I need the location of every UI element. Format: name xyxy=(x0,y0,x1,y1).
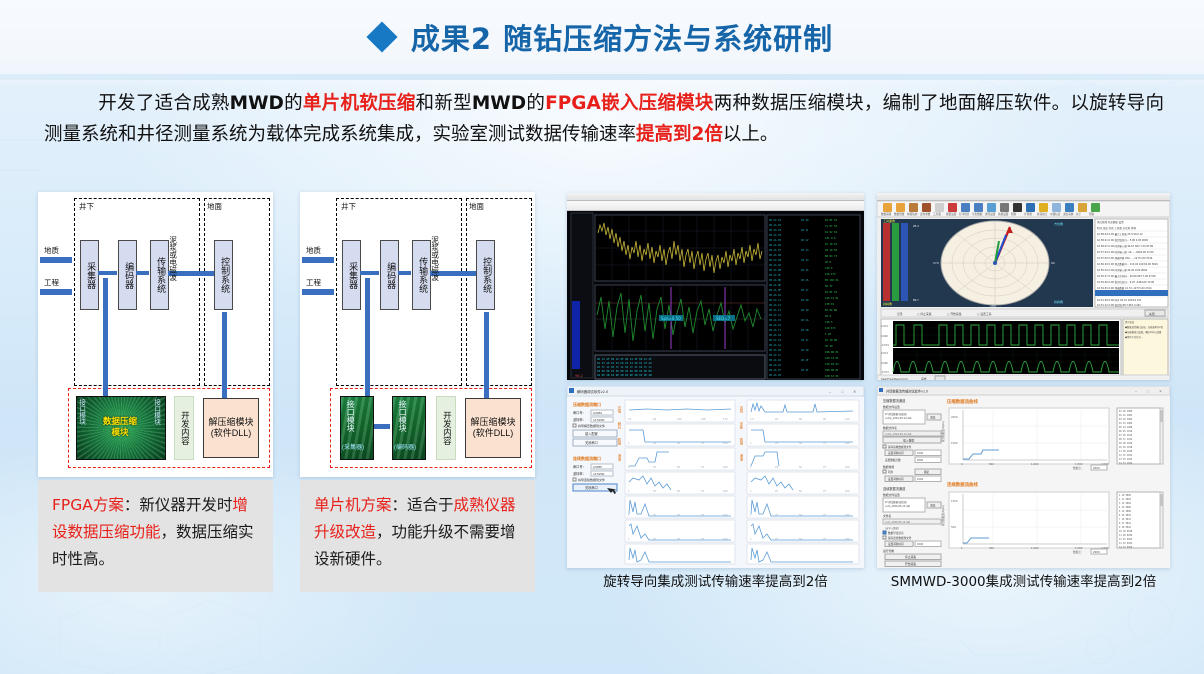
svg-text:00 AA 11: 00 AA 11 xyxy=(769,298,782,302)
svg-text:25: 25 xyxy=(653,466,657,469)
block-collector-2: 采集器 xyxy=(342,240,361,310)
svg-text:10:55:32 0:00 同步输入键 44.2: 10:55:32 0:00 同步输入键 44.20 0.00 0000 xyxy=(1097,268,1148,272)
svg-text:90: 90 xyxy=(1051,261,1055,265)
svg-text:76 19: 76 19 xyxy=(825,344,833,348)
svg-text:00 AA 0A: 00 AA 0A xyxy=(769,263,782,267)
svg-text:1,000: 1,000 xyxy=(1031,546,1039,550)
svg-text:148: 148 xyxy=(701,418,706,421)
svg-text:06 25 1010: 06 25 1010 xyxy=(1119,430,1133,433)
body-seg-mcu-highlight: 单片机软压缩 xyxy=(303,93,416,114)
svg-text:设置数据点数: 设置数据点数 xyxy=(885,458,901,462)
arrow-chip-up-2 xyxy=(365,278,370,396)
svg-text:91 8F 01: 91 8F 01 xyxy=(825,218,838,222)
iface-left-label-2: 接口模块 xyxy=(346,400,354,434)
flow-app-screenshot[interactable]: 井场数据流传输测试软件v1.0 –□✕ 压缩数据流通道 数据文件设置 D:\测试… xyxy=(877,386,1170,568)
svg-text:25: 25 xyxy=(653,514,657,517)
svg-text:运行控制: 运行控制 xyxy=(883,549,894,553)
rss-caption: 旋转导向集成测试传输速率提高到2倍 xyxy=(567,570,864,590)
svg-text:保存连续数据到文件: 保存连续数据到文件 xyxy=(888,536,912,540)
svg-text:1B 25: 1B 25 xyxy=(801,268,809,272)
svg-text:00 12 4F 00 12 4F 00 12 4F: 00 12 4F 00 12 4F 00 12 4F 00 12 4F xyxy=(597,357,652,361)
svg-text:13 22 5024: 13 22 5024 xyxy=(1119,542,1133,545)
svg-text:13 32 1024: 13 32 1024 xyxy=(1119,458,1133,461)
svg-text:COM5: COM5 xyxy=(593,465,602,469)
svg-text:50: 50 xyxy=(677,466,681,469)
iface-right-text: 接口模块 xyxy=(153,399,160,425)
block-transmission-label: 传输系统 xyxy=(155,257,164,293)
svg-text:报警设置: 报警设置 xyxy=(946,212,957,216)
svg-text:○ 停止采集: ○ 停止采集 xyxy=(917,312,932,316)
svg-text:56 0: 56 0 xyxy=(825,314,832,318)
svg-text:记录: 记录 xyxy=(897,312,903,316)
dev-scope-label: 开发内容 xyxy=(180,411,189,445)
svg-text:114: 114 xyxy=(845,418,850,421)
downhole-zone-label: 井下 xyxy=(79,201,94,212)
svg-text:00 AA 0C: 00 AA 0C xyxy=(769,273,782,277)
svg-text:1B 2D: 1B 2D xyxy=(801,348,809,352)
svg-text:25: 25 xyxy=(775,490,779,493)
svg-text:75: 75 xyxy=(823,442,827,445)
svg-text:定向参数: 定向参数 xyxy=(920,212,931,216)
block-encoder: 编码器 xyxy=(118,240,137,310)
svg-text:10:55:40 0:00 稳定位回归… 9.0: 10:55:40 0:00 稳定位回归… 9.07 -4494.00 13.00 xyxy=(1097,280,1155,284)
svg-text:关闭: 关闭 xyxy=(1149,312,1155,316)
svg-text:1B 2E: 1B 2E xyxy=(801,358,809,362)
svg-text:50: 50 xyxy=(677,514,681,517)
svg-text:25: 25 xyxy=(775,442,779,445)
svg-text:100: 100 xyxy=(845,538,850,541)
svg-text:数据导出显示: 数据导出显示 xyxy=(888,531,904,535)
block-control-label: 控制系统 xyxy=(219,257,228,293)
svg-text:136 5: 136 5 xyxy=(825,320,833,324)
svg-text:6 15 5010: 6 15 5010 xyxy=(1119,514,1132,517)
svg-text:14 23 5026: 14 23 5026 xyxy=(1119,546,1133,549)
svg-text:浏览: 浏览 xyxy=(930,416,936,420)
body-paragraph: 开发了适合成熟MWD的单片机软压缩和新型MWD的FPGA嵌入压缩模块两种数据压缩… xyxy=(44,88,1164,150)
svg-text:00 AA 1E: 00 AA 1E xyxy=(769,363,782,367)
svg-text:116 18 63: 116 18 63 xyxy=(825,362,839,366)
rss-titlebar[interactable] xyxy=(567,193,864,201)
svg-text:10:58:07 0:00 同步输入键 44.6: 10:58:07 0:00 同步输入键 44.67 667.7.20 97.80 xyxy=(1097,244,1154,248)
svg-text:10:55:37 0:00 最大定向机… 26.: 10:55:37 0:00 最大定向机… 26.60 667.7.00 97.8… xyxy=(1097,274,1156,278)
svg-text:08 27 1014: 08 27 1014 xyxy=(1119,438,1133,441)
svg-text:连续数据流端口: 连续数据流端口 xyxy=(573,455,601,461)
svg-text:1,500: 1,500 xyxy=(1075,546,1083,550)
svg-text:50: 50 xyxy=(677,442,681,445)
smmwd-titlebar[interactable] xyxy=(877,193,1170,201)
fpga-caption-tag: FPGA方案 xyxy=(52,496,124,514)
chip-compression-title: 数据压缩 模块 xyxy=(94,416,146,437)
decompress-sub-label: (软件DLL) xyxy=(211,428,252,438)
svg-text:178 19: 178 19 xyxy=(825,302,835,306)
svg-text:解码: 解码 xyxy=(617,421,621,429)
svg-text:00 AA 04: 00 AA 04 xyxy=(769,233,782,237)
svg-text:2000: 2000 xyxy=(951,415,958,419)
svg-text:100: 100 xyxy=(845,466,850,469)
svg-text:-0.074: -0.074 xyxy=(881,371,889,374)
decompress-sub-label-2: (软件DLL) xyxy=(473,428,514,438)
svg-text:198 80 01: 198 80 01 xyxy=(825,368,839,372)
svg-text:关闭串口: 关闭串口 xyxy=(585,485,598,490)
svg-text:采集: 采集 xyxy=(739,421,743,429)
svg-text:串口号：: 串口号： xyxy=(573,464,586,469)
iface-right-text-2: 接口模块 xyxy=(398,400,406,432)
surface-zone-label: 地面 xyxy=(207,201,222,212)
svg-text:9 18 5016: 9 18 5016 xyxy=(1119,526,1132,529)
svg-text:压缩数据流端口: 压缩数据流端口 xyxy=(573,401,601,407)
dev-scope-tag-2: 开发内容 xyxy=(436,396,456,460)
svg-text:00 AA 03: 00 AA 03 xyxy=(769,228,782,232)
svg-text:D:\测试数据\连续流\: D:\测试数据\连续流\ xyxy=(885,500,907,504)
svg-text:120: 120 xyxy=(677,418,682,421)
svg-text:198 80 01: 198 80 01 xyxy=(825,350,839,354)
svg-text:确定: 确定 xyxy=(924,470,930,474)
svg-text:cont_2024-05-12.dat: cont_2024-05-12.dat xyxy=(885,521,910,524)
svg-text:115200: 115200 xyxy=(593,418,605,422)
channel-label: 泥浆或电磁波 xyxy=(169,236,177,283)
chip-title-b: 模块 xyxy=(111,427,128,437)
input-engineering-label: 工程 xyxy=(44,277,59,288)
svg-text:05 24 1008: 05 24 1008 xyxy=(1119,426,1133,429)
body-seg-fpga-highlight: FPGA嵌入压缩模块 xyxy=(545,93,714,114)
svg-text:00 AA 13: 00 AA 13 xyxy=(769,308,782,312)
input-geology-label: 地质 xyxy=(44,245,59,256)
svg-text:00 AA 09: 00 AA 09 xyxy=(769,258,782,262)
mcu-caption-box: 单片机方案：适合于成熟仪器升级改造，功能升级不需要增设新硬件。 xyxy=(300,480,535,592)
svg-text:1500: 1500 xyxy=(951,499,958,503)
svg-text:00 AA 1D: 00 AA 1D xyxy=(769,358,782,362)
svg-text:66: 66 xyxy=(799,418,803,421)
svg-text:11 20 5020: 11 20 5020 xyxy=(1119,534,1133,537)
svg-text:4 13 5006: 4 13 5006 xyxy=(1119,506,1132,509)
iface-left-label: 接口模块 xyxy=(78,399,85,427)
svg-text:1000: 1000 xyxy=(951,441,958,445)
svg-text:03 5D 88 03 5D 88 03 5D 88: 03 5D 88 03 5D 88 03 5D 88 03 5D 88 xyxy=(597,369,652,373)
body-seg-mwd-1: MWD xyxy=(230,93,284,114)
svg-text:波特率：: 波特率： xyxy=(573,471,586,476)
svg-text:1B 23: 1B 23 xyxy=(801,248,809,252)
svg-text:10:58:21 0:00 稳定值回归… 5.0: 10:58:21 0:00 稳定值回归… 5.00 0.05 0000 xyxy=(1097,238,1148,242)
surface-zone-label-2: 地面 xyxy=(469,201,484,212)
arrow-geology-2 xyxy=(302,257,334,263)
svg-text:136 5: 136 5 xyxy=(825,266,833,270)
svg-text:数据校验: 数据校验 xyxy=(883,465,894,469)
block-encoder-label: 编码器 xyxy=(123,262,132,289)
flow-canvas[interactable]: 井场数据流传输测试软件v1.0 –□✕ 压缩数据流通道 数据文件设置 D:\测试… xyxy=(877,386,1170,568)
input-engineering-label-2: 工程 xyxy=(306,277,321,288)
svg-text:数据回放: 数据回放 xyxy=(894,212,905,216)
svg-text:累计数据量(Byte): 累计数据量(Byte) xyxy=(941,505,945,526)
svg-text:00 AA 14: 00 AA 14 xyxy=(769,313,782,317)
arrow-chip-to-chip xyxy=(374,424,390,429)
block-control: 控制系统 xyxy=(214,240,233,310)
rss-waveform-screenshot[interactable]: 98.2 Spe=0.50 SEQ=7 xyxy=(567,193,864,380)
svg-text:50: 50 xyxy=(799,442,803,445)
svg-text:180: 180 xyxy=(990,304,996,308)
svg-text:1B 2F: 1B 2F xyxy=(801,368,809,372)
svg-text:00 AA 10: 00 AA 10 xyxy=(769,293,782,297)
svg-text:0: 0 xyxy=(992,221,994,225)
header-divider xyxy=(0,74,1204,80)
svg-text:井斜角: 井斜角 xyxy=(1054,299,1063,304)
svg-text:1000: 1000 xyxy=(917,452,924,455)
svg-text:25: 25 xyxy=(653,442,657,445)
svg-text:0.000: 0.000 xyxy=(881,335,888,338)
svg-text:10 29 1018: 10 29 1018 xyxy=(1119,446,1133,449)
fpga-caption-t1: 新仪器开发时 xyxy=(139,496,232,514)
svg-text:75: 75 xyxy=(701,466,705,469)
svg-text:01 20 1000: 01 20 1000 xyxy=(1119,410,1133,413)
svg-text:打印预览: 打印预览 xyxy=(959,212,970,216)
svg-text:开始采集: 开始采集 xyxy=(905,562,916,566)
svg-text:1.5: 1.5 xyxy=(750,418,754,421)
block-transmission: 传输系统 xyxy=(150,240,169,310)
svg-text:00 AA 0D: 00 AA 0D xyxy=(769,278,782,282)
smmwd-compass-screenshot[interactable]: 数据采集数据回放井眼轨迹 定向参数工具面报警设置 打印预览导出数据通讯设置 系统… xyxy=(877,193,1170,380)
svg-text:1B 2B: 1B 2B xyxy=(801,328,809,332)
svg-text:81 02 00: 81 02 00 xyxy=(825,308,838,312)
mcu-caption-t1: 适合于 xyxy=(407,496,454,514)
fpga-diagram: 井下 地面 地质 工程 采集器 编码器 传输系统 控制系统 xyxy=(38,192,273,477)
svg-text:井深校正: 井深校正 xyxy=(1037,212,1048,216)
block-control-2: 控制系统 xyxy=(476,240,495,310)
svg-text:3 12 5004: 3 12 5004 xyxy=(1119,502,1132,505)
block-encoder-label-2: 编码器 xyxy=(385,262,394,289)
smmwd-canvas[interactable]: 数据采集数据回放井眼轨迹 定向参数工具面报警设置 打印预览导出数据通讯设置 系统… xyxy=(877,201,1170,380)
svg-text:连续数据流通道: 连续数据流通道 xyxy=(883,486,906,491)
svg-text:测点管理 历史数据 设置: 测点管理 历史数据 设置 xyxy=(1097,220,1124,224)
arrow-geology xyxy=(40,257,72,263)
svg-text:10:57:03 0:00 测速甲键 4: 10:57:03 0:00 测速甲键 452.… -1277x.00 2314 xyxy=(1097,256,1153,260)
svg-text:–: – xyxy=(1135,390,1137,394)
mcu-diagram: 井下 地面 地质 工程 采集器 编码器 传输系统 控制系统 泥浆或电 xyxy=(300,192,535,477)
iface-right-label: 接口模块 xyxy=(153,399,160,427)
rss-toolbar[interactable] xyxy=(567,201,864,211)
svg-text:工具面角: 工具面角 xyxy=(883,218,895,223)
svg-text:71 07 54: 71 07 54 xyxy=(825,224,838,228)
svg-text:载入配置: 载入配置 xyxy=(585,431,598,436)
svg-text:保存接收数据到文件: 保存接收数据到文件 xyxy=(888,445,912,449)
svg-text:12 21 5022: 12 21 5022 xyxy=(1119,538,1133,541)
svg-text:94: 94 xyxy=(653,418,657,421)
svg-text:115200: 115200 xyxy=(593,472,605,476)
svg-text:00 AA 18: 00 AA 18 xyxy=(769,333,782,337)
svg-text:2000: 2000 xyxy=(1093,550,1100,554)
decompress-label: 解压缩模块 xyxy=(208,417,253,427)
svg-text:00 AA 1C: 00 AA 1C xyxy=(769,353,782,357)
svg-text:00 AA 17: 00 AA 17 xyxy=(769,328,782,332)
flow-chart1-title-text: 压缩数据流曲线 xyxy=(947,398,978,405)
block-transmission-label-2: 传输系统 xyxy=(417,257,426,293)
svg-text:10:51:59 0:00 同步 62.5: 10:51:59 0:00 同步 62.51 1039.0 151 xyxy=(1097,298,1142,302)
svg-text:●等待下井信号…: ●等待下井信号… xyxy=(1125,335,1144,339)
svg-text:500: 500 xyxy=(951,525,956,529)
svg-text:1B 27: 1B 27 xyxy=(801,288,809,292)
svg-text:时间 深度 状态 工具面 方位角: 时间 深度 状态 工具面 方位角 井斜 xyxy=(1097,226,1136,230)
decoder-app-screenshot[interactable]: 解码器调试软件v2.0 –□✕ 压缩数据流端口 串口号： COM4 波特率： 1… xyxy=(567,386,864,568)
svg-text:91 18 01: 91 18 01 xyxy=(825,242,838,246)
chip-title-a: 数据压缩 xyxy=(103,416,137,426)
arrow-engineering-2 xyxy=(302,289,334,295)
downhole-zone-label-2: 井下 xyxy=(341,201,356,212)
svg-text:comp_2024-05-12.dat: comp_2024-05-12.dat xyxy=(885,433,911,436)
decoder-canvas[interactable]: 解码器调试软件v2.0 –□✕ 压缩数据流端口 串口号： COM4 波特率： 1… xyxy=(567,386,864,568)
iface-left-sub-text: (采集器) xyxy=(342,445,364,451)
svg-text:50: 50 xyxy=(799,466,803,469)
svg-text:○ 设置工具: ○ 设置工具 xyxy=(977,312,992,316)
svg-text:10:56:19 0:00 测点数据时… 113: 10:56:19 0:00 测点数据时… 113.40 1023/4.00 56… xyxy=(1097,262,1158,266)
svg-text:128 12 01: 128 12 01 xyxy=(825,374,839,378)
iface-left-text: 接口模块 xyxy=(78,399,85,425)
svg-text:50: 50 xyxy=(799,538,803,541)
svg-text:100: 100 xyxy=(845,514,850,517)
svg-text:91 8F 01: 91 8F 01 xyxy=(825,290,838,294)
svg-text:25: 25 xyxy=(775,466,779,469)
arrow-collector-encoder xyxy=(98,271,117,275)
svg-text:75: 75 xyxy=(823,538,827,541)
svg-text:1B 21: 1B 21 xyxy=(801,228,809,232)
svg-text:100: 100 xyxy=(845,490,850,493)
svg-text:00 AA 16: 00 AA 16 xyxy=(769,323,782,327)
block-collector-label-2: 采集器 xyxy=(347,262,356,289)
title-row: 成果2 随钻压缩方法与系统研制 xyxy=(0,12,1204,62)
svg-text:1B 20: 1B 20 xyxy=(801,218,809,222)
svg-text:118 173: 118 173 xyxy=(825,272,836,276)
block-control-label-2: 控制系统 xyxy=(481,257,490,293)
svg-text:7 16 5012: 7 16 5012 xyxy=(1119,518,1132,521)
svg-text:100: 100 xyxy=(723,442,728,445)
svg-text:00 AA 05: 00 AA 05 xyxy=(769,238,782,242)
svg-text:00 AA 06: 00 AA 06 xyxy=(769,243,782,247)
svg-text:设置间隔时间: 设置间隔时间 xyxy=(888,451,904,455)
svg-text:25: 25 xyxy=(775,514,779,517)
arrow-decompress-up xyxy=(222,312,227,398)
page-title: 成果2 随钻压缩方法与系统研制 xyxy=(411,16,833,58)
svg-text:100: 100 xyxy=(723,514,728,517)
svg-text:数据文件设置: 数据文件设置 xyxy=(883,493,900,497)
svg-text:1B 2C: 1B 2C xyxy=(801,338,809,342)
svg-text:76 0: 76 0 xyxy=(825,260,832,264)
svg-text:压缩数据流通道: 压缩数据流通道 xyxy=(883,398,906,403)
svg-text:8 17 5014: 8 17 5014 xyxy=(1119,522,1132,525)
svg-text:00 AA 08: 00 AA 08 xyxy=(769,253,782,257)
body-seg-4: 的 xyxy=(526,93,545,114)
svg-text:1,000: 1,000 xyxy=(1031,462,1039,466)
svg-text:1 20: 1 20 xyxy=(825,332,832,336)
decompress-module-2: 解压缩模块 (软件DLL) xyxy=(465,398,521,458)
svg-text:数据文件设置: 数据文件设置 xyxy=(883,405,900,409)
svg-text:连续: 连续 xyxy=(739,405,743,413)
iface-left-sub-2: (采集器) xyxy=(342,442,364,451)
mcu-diagram-panel: 井下 地面 地质 工程 采集器 编码器 传输系统 控制系统 泥浆或电 xyxy=(300,192,535,477)
svg-text:00 AA 1B: 00 AA 1B xyxy=(769,348,782,352)
svg-text:10 19 5018: 10 19 5018 xyxy=(1119,530,1133,533)
svg-text:○ 开始采集: ○ 开始采集 xyxy=(947,312,962,316)
svg-text:02 7C 11 02 7C 11 02 7C 11: 02 7C 11 02 7C 11 02 7C 11 02 7C 11 xyxy=(597,365,652,369)
arrow-engineering xyxy=(40,289,72,295)
svg-text:14 33 1026: 14 33 1026 xyxy=(1119,462,1133,465)
svg-text:95: 95 xyxy=(823,418,827,421)
rss-waveform-canvas[interactable]: 98.2 Spe=0.50 SEQ=7 xyxy=(567,211,864,380)
svg-text:通讯设置: 通讯设置 xyxy=(985,212,996,216)
svg-text:方位角: 方位角 xyxy=(1054,221,1063,226)
svg-text:25: 25 xyxy=(653,538,657,541)
svg-text:50: 50 xyxy=(677,490,681,493)
svg-text:00 AA 19: 00 AA 19 xyxy=(769,338,782,342)
svg-text:1B 28: 1B 28 xyxy=(801,298,809,302)
wave-marker-1-text: Spe=0.50 xyxy=(661,316,681,321)
svg-text:退出系统: 退出系统 xyxy=(1063,212,1074,216)
flow-chart2-title-text: 连续数据流曲线 xyxy=(947,481,978,488)
svg-text:75: 75 xyxy=(701,538,705,541)
svg-text:50: 50 xyxy=(677,538,681,541)
channel-label-text-2: 泥浆或电磁波 xyxy=(431,236,439,281)
svg-text:数据: 数据 xyxy=(739,437,743,445)
channel-label-text: 泥浆或电磁波 xyxy=(169,236,177,281)
slide-root: 成果2 随钻压缩方法与系统研制 开发了适合成熟MWD的单片机软压缩和新型MWD的… xyxy=(0,0,1204,674)
svg-text:1B 22: 1B 22 xyxy=(801,238,809,242)
svg-text:2000: 2000 xyxy=(1093,466,1100,470)
svg-text:75: 75 xyxy=(823,466,827,469)
svg-text:(未导入数据): (未导入数据) xyxy=(885,526,899,530)
body-seg-2: 的 xyxy=(284,93,303,114)
decompress-label-2: 解压缩模块 xyxy=(470,417,515,427)
svg-text:0.074: 0.074 xyxy=(881,352,888,355)
svg-text:1 10 5000: 1 10 5000 xyxy=(1119,494,1132,497)
mcu-caption-colon: ： xyxy=(392,496,408,514)
svg-text:1,500: 1,500 xyxy=(1075,462,1083,466)
svg-text:累计数据量(Byte): 累计数据量(Byte) xyxy=(941,421,945,442)
block-collector: 采集器 xyxy=(80,240,99,310)
svg-text:12 31 1022: 12 31 1022 xyxy=(1119,454,1133,457)
diamond-icon xyxy=(366,21,397,52)
iface-right-label-2: 接口模块 xyxy=(398,400,406,434)
svg-text:04 9E 2B 04 9E 2B 04 9E 2B: 04 9E 2B 04 9E 2B 04 9E 2B 04 9E 2B xyxy=(597,373,652,377)
svg-text:00 AA 1A: 00 AA 1A xyxy=(769,343,782,347)
flow-app-title-text: 井场数据流传输测试软件v1.0 xyxy=(886,389,928,394)
arrow-encoder-transmission-2 xyxy=(398,271,411,275)
svg-text:●压缩模块已加载，解压DLL已就绪: ●压缩模块已加载，解压DLL已就绪 xyxy=(1125,330,1162,334)
svg-text:帮助: 帮助 xyxy=(1089,212,1095,216)
svg-text:工具面: 工具面 xyxy=(933,212,941,216)
svg-text:采样: 采样 xyxy=(921,377,927,380)
wave-marker-2-text: SEQ=7 xyxy=(716,316,731,321)
iface-left-text-2: 接口模块 xyxy=(346,400,354,432)
svg-text:170: 170 xyxy=(723,418,728,421)
svg-text:10:54:51 0:00 测速数据 1: 10:54:51 0:00 测速数据 12.74 -1277x.00 2314 xyxy=(1097,286,1152,290)
svg-text:系统设置: 系统设置 xyxy=(998,212,1009,216)
svg-text:100: 100 xyxy=(723,466,728,469)
body-seg-7: 以上。 xyxy=(723,124,779,145)
svg-text:89.7: 89.7 xyxy=(913,298,919,302)
svg-text:11 30 1020: 11 30 1020 xyxy=(1119,450,1133,453)
body-seg-5: 两种数据压缩模块，编制了地面解压软件。以 xyxy=(714,93,1089,114)
svg-text:126 14 01: 126 14 01 xyxy=(825,296,839,300)
svg-text:00 AA 1F: 00 AA 1F xyxy=(769,368,782,372)
svg-text:-0.074: -0.074 xyxy=(881,344,889,347)
svg-text:91 10 00: 91 10 00 xyxy=(825,338,838,342)
svg-text:1000: 1000 xyxy=(917,543,924,546)
svg-text:00 AA 07: 00 AA 07 xyxy=(769,248,782,252)
svg-text:56 37: 56 37 xyxy=(825,284,833,288)
svg-text:数据点：: 数据点： xyxy=(1073,466,1083,470)
svg-text:00 AA 0E: 00 AA 0E xyxy=(769,283,782,287)
svg-text:提示信息: 提示信息 xyxy=(1125,320,1135,324)
svg-text:井斜角: 井斜角 xyxy=(883,301,892,306)
mcu-caption-tag: 单片机方案 xyxy=(314,496,392,514)
svg-text:帮助: 帮助 xyxy=(1011,212,1017,216)
smmwd-caption: SMMWD-3000集成测试传输速率提高到2倍 xyxy=(877,570,1170,590)
